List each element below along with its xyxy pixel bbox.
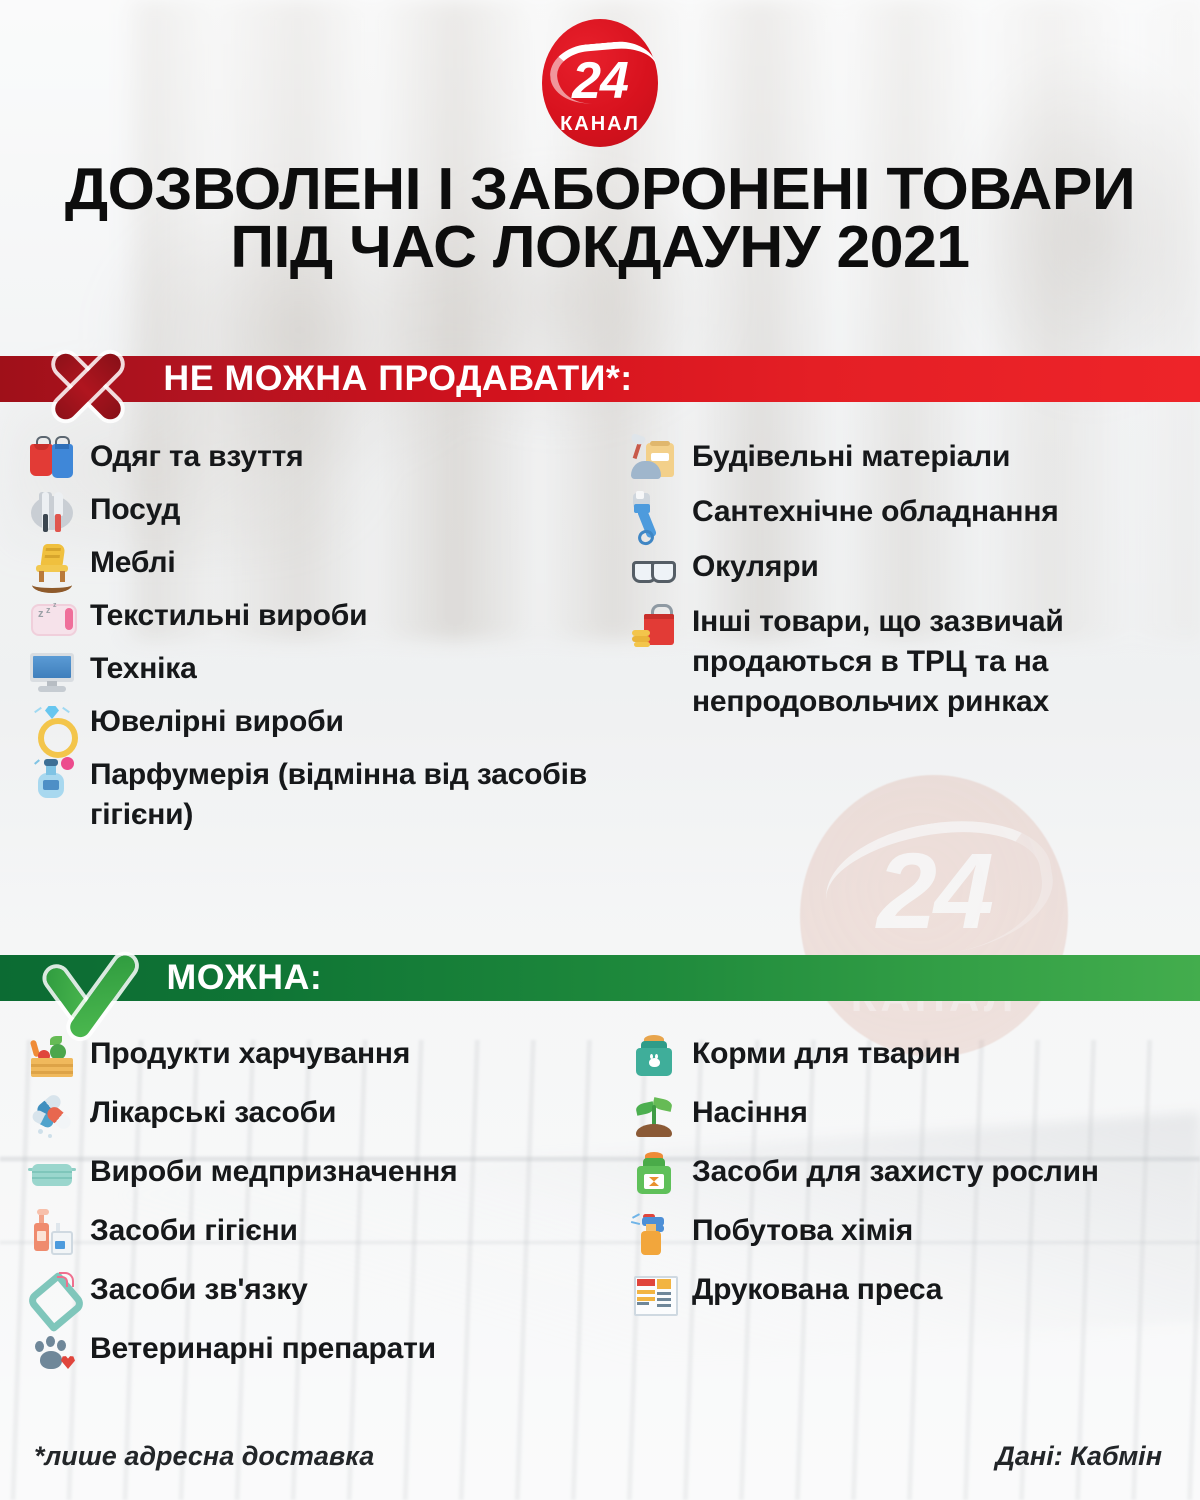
paw-icon	[28, 1327, 76, 1375]
list-item: Насіння	[630, 1093, 1190, 1139]
cross-icon	[40, 341, 136, 431]
list-item: Побутова хімія	[630, 1211, 1190, 1257]
list-item: Засоби зв'язку	[28, 1270, 608, 1316]
list-item-label: Ветеринарні препарати	[90, 1329, 436, 1369]
shopping-bag-icon	[630, 600, 678, 648]
list-item-label: Будівельні матеріали	[692, 437, 1010, 477]
allowed-list-left: Продукти харчування Лікарські засоби Вир…	[28, 1034, 608, 1388]
list-item: Парфумерія (відмінна від засобів гігієни…	[28, 755, 588, 835]
infographic-poster: 24 КАНАЛ 24 КАНАЛ ДОЗВОЛЕНІ І ЗАБОРОНЕНІ…	[0, 0, 1200, 1500]
list-item: Ювелірні вироби	[28, 702, 588, 748]
list-item-label: Парфумерія (відмінна від засобів гігієни…	[90, 755, 588, 835]
forbidden-list-right: Будівельні матеріали Сантехнічне обладна…	[630, 437, 1190, 731]
section-header-forbidden: НЕ МОЖНА ПРОДАВАТИ*:	[0, 356, 1200, 402]
list-item-label: Побутова хімія	[692, 1211, 913, 1251]
list-item: Друкована преса	[630, 1270, 1190, 1316]
list-item: Окуляри	[630, 547, 1190, 593]
list-item-label: Інші товари, що зазвичай продаються в ТР…	[692, 602, 1190, 722]
list-item: Засоби для захисту рослин	[630, 1152, 1190, 1198]
list-item: Одяг та взуття	[28, 437, 588, 483]
list-item: Посуд	[28, 490, 588, 536]
list-item: Техніка	[28, 649, 588, 695]
plant-protection-icon	[630, 1150, 678, 1198]
list-item: Інші товари, що зазвичай продаються в ТР…	[630, 602, 1190, 722]
list-item-label: Одяг та взуття	[90, 437, 303, 477]
sprout-icon	[630, 1091, 678, 1139]
pillow-icon: zzz	[28, 594, 76, 642]
wrench-icon	[630, 490, 678, 538]
list-item: Засоби гігієни	[28, 1211, 608, 1257]
list-item-label: Ювелірні вироби	[90, 702, 344, 742]
newspaper-icon	[630, 1268, 678, 1316]
spray-bottle-icon	[630, 1209, 678, 1257]
list-item-label: Сантехнічне обладнання	[692, 492, 1059, 532]
section-header-allowed: МОЖНА:	[0, 955, 1200, 1001]
medical-mask-icon	[28, 1150, 76, 1198]
list-item: Ветеринарні препарати	[28, 1329, 608, 1375]
source-credit: Дані: Кабмін	[995, 1441, 1162, 1472]
list-item-label: Посуд	[90, 490, 180, 530]
logo-number: 24	[536, 55, 664, 107]
perfume-icon	[28, 753, 76, 801]
ring-icon	[28, 700, 76, 748]
phone-icon	[28, 1268, 76, 1316]
list-item: Продукти харчування	[28, 1034, 608, 1080]
list-item-label: Окуляри	[692, 547, 819, 587]
allowed-list-right: Корми для тварин Насіння Засоби для захи…	[630, 1034, 1190, 1329]
list-item-label: Техніка	[90, 649, 197, 689]
list-item-label: Друкована преса	[692, 1270, 942, 1310]
monitor-icon	[28, 647, 76, 695]
list-item-label: Засоби для захисту рослин	[692, 1152, 1099, 1192]
list-item: Корми для тварин	[630, 1034, 1190, 1080]
list-item: Будівельні матеріали	[630, 437, 1190, 483]
page-title-line-1: ДОЗВОЛЕНІ І ЗАБОРОНЕНІ ТОВАРИ	[0, 160, 1200, 218]
list-item: Вироби медпризначення	[28, 1152, 608, 1198]
glasses-icon	[630, 545, 678, 593]
list-item: Лікарські засоби	[28, 1093, 608, 1139]
list-item: Сантехнічне обладнання	[630, 492, 1190, 538]
list-item-label: Продукти харчування	[90, 1034, 410, 1074]
check-icon	[30, 935, 150, 1033]
logo-word: КАНАЛ	[536, 113, 664, 136]
list-item-label: Текстильні вироби	[90, 596, 367, 636]
list-item-label: Засоби гігієни	[90, 1211, 298, 1251]
rocking-chair-icon	[28, 541, 76, 589]
list-item-label: Насіння	[692, 1093, 808, 1133]
list-item-label: Меблі	[90, 543, 175, 583]
clothes-icon	[28, 435, 76, 483]
forbidden-list-left: Одяг та взуття Посуд Меблі zzz Текстильн…	[28, 437, 588, 842]
list-item-label: Корми для тварин	[692, 1034, 961, 1074]
list-item: Меблі	[28, 543, 588, 589]
page-title: ДОЗВОЛЕНІ І ЗАБОРОНЕНІ ТОВАРИ ПІД ЧАС ЛО…	[0, 160, 1200, 276]
pet-food-icon	[630, 1032, 678, 1080]
vegetable-crate-icon	[28, 1032, 76, 1080]
section-header-allowed-label: МОЖНА:	[166, 958, 322, 998]
list-item-label: Лікарські засоби	[90, 1093, 336, 1133]
page-title-line-2: ПІД ЧАС ЛОКДАУНУ 2021	[0, 218, 1200, 276]
section-header-forbidden-label: НЕ МОЖНА ПРОДАВАТИ*:	[163, 359, 632, 399]
cutlery-icon	[28, 488, 76, 536]
hygiene-bottles-icon	[28, 1209, 76, 1257]
list-item-label: Вироби медпризначення	[90, 1152, 458, 1192]
footnote: *лише адресна доставка	[34, 1441, 374, 1472]
list-item-label: Засоби зв'язку	[90, 1270, 308, 1310]
channel-logo: 24 КАНАЛ	[536, 19, 664, 147]
pills-icon	[28, 1091, 76, 1139]
cement-bag-icon	[630, 435, 678, 483]
list-item: zzz Текстильні вироби	[28, 596, 588, 642]
